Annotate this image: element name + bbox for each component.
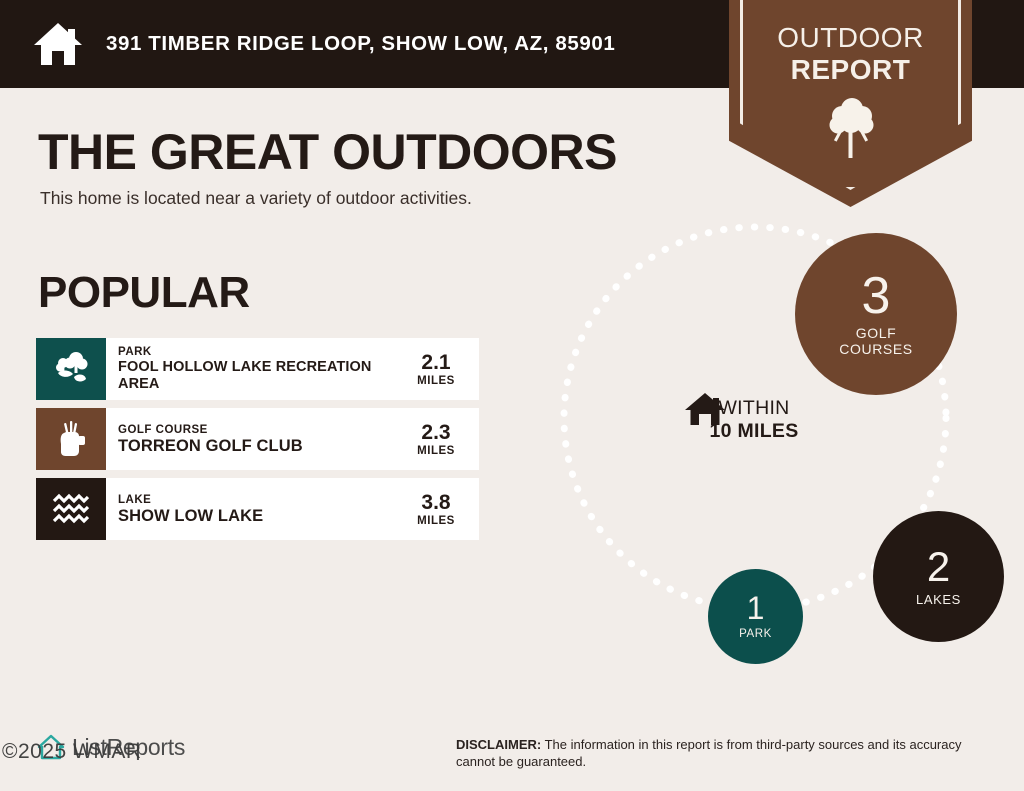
popular-list: PARK FOOL HOLLOW LAKE RECREATION AREA 2.… <box>36 338 479 548</box>
section-title-popular: POPULAR <box>38 268 250 318</box>
bubble-count: 2 <box>927 546 950 588</box>
poi-text: PARK FOOL HOLLOW LAKE RECREATION AREA <box>106 338 397 400</box>
page-subtitle: This home is located near a variety of o… <box>40 188 472 209</box>
bubble-park[interactable]: 1 PARK <box>708 569 803 664</box>
list-item[interactable]: GOLF COURSE TORREON GOLF CLUB 2.3 MILES <box>36 408 479 470</box>
poi-icon-tile <box>36 478 106 540</box>
badge-title-line2: REPORT <box>729 54 972 86</box>
poi-category: LAKE <box>118 493 397 507</box>
outdoor-report-badge: OUTDOOR REPORT <box>729 0 972 207</box>
bubble-label: PARK <box>739 626 772 642</box>
badge-title: OUTDOOR REPORT <box>729 22 972 86</box>
poi-text: LAKE SHOW LOW LAKE <box>106 478 397 540</box>
copyright-watermark: ©2025 WMAR <box>2 740 142 764</box>
poi-icon-tile <box>36 338 106 400</box>
bubble-label-line2: COURSES <box>839 341 912 357</box>
poi-category: GOLF COURSE <box>118 423 397 437</box>
diagram-center: WITHIN 10 MILES <box>684 391 824 443</box>
page-title: THE GREAT OUTDOORS <box>38 123 617 181</box>
bubble-label-line1: GOLF <box>839 325 912 341</box>
park-trees-icon <box>51 349 91 389</box>
poi-name: FOOL HOLLOW LAKE RECREATION AREA <box>118 359 397 393</box>
poi-distance-value: 2.1 <box>421 351 450 374</box>
poi-distance-unit: MILES <box>417 444 455 458</box>
poi-distance-unit: MILES <box>417 514 455 528</box>
bubble-count: 1 <box>747 592 765 624</box>
poi-distance-unit: MILES <box>417 374 455 388</box>
disclaimer-label: DISCLAIMER: <box>456 737 541 752</box>
bubble-label: GOLF COURSES <box>839 325 912 357</box>
tree-icon <box>825 98 877 160</box>
poi-text: GOLF COURSE TORREON GOLF CLUB <box>106 408 397 470</box>
list-item[interactable]: LAKE SHOW LOW LAKE 3.8 MILES <box>36 478 479 540</box>
bubble-golf-courses[interactable]: 3 GOLF COURSES <box>795 233 957 395</box>
poi-icon-tile <box>36 408 106 470</box>
poi-category: PARK <box>118 345 397 359</box>
badge-title-line1: OUTDOOR <box>729 22 972 54</box>
bubble-label: LAKES <box>916 592 961 608</box>
water-waves-icon <box>50 493 92 525</box>
home-icon <box>32 21 84 67</box>
poi-distance: 2.1 MILES <box>397 338 479 400</box>
poi-distance-value: 3.8 <box>421 491 450 514</box>
home-icon <box>684 391 726 427</box>
list-item[interactable]: PARK FOOL HOLLOW LAKE RECREATION AREA 2.… <box>36 338 479 400</box>
property-address: 391 TIMBER RIDGE LOOP, SHOW LOW, AZ, 859… <box>106 32 615 56</box>
poi-distance: 3.8 MILES <box>397 478 479 540</box>
poi-distance-value: 2.3 <box>421 421 450 444</box>
disclaimer: DISCLAIMER: The information in this repo… <box>456 736 1001 770</box>
bubble-count: 3 <box>862 271 891 321</box>
poi-distance: 2.3 MILES <box>397 408 479 470</box>
poi-name: TORREON GOLF CLUB <box>118 437 397 456</box>
bubble-lakes[interactable]: 2 LAKES <box>873 511 1004 642</box>
poi-name: SHOW LOW LAKE <box>118 507 397 526</box>
within-10-miles-diagram: 3 GOLF COURSES 2 LAKES 1 PARK WITHIN 10 … <box>548 218 1008 688</box>
golf-bag-icon <box>53 420 89 458</box>
